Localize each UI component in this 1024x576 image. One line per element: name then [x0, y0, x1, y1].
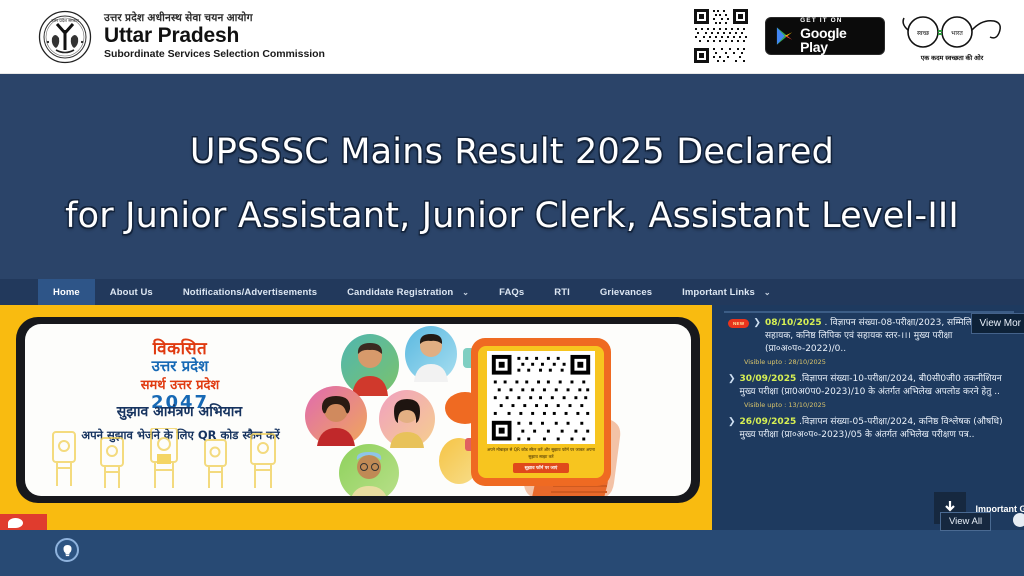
nav-label: Grievances [600, 287, 652, 298]
chevron-down-icon: ⌄ [764, 288, 771, 297]
nav-label: Home [53, 287, 80, 298]
notification-item[interactable]: ❯ 30/09/2025 .विज्ञापन संख्या-10-परीक्षा… [724, 373, 1016, 409]
nav-spacer [786, 279, 1024, 305]
poster-device-frame: विकसित उत्तर प्रदेश समर्थ उत्तर प्रदेश 2… [16, 317, 700, 503]
nav-item-notifications-advertisements[interactable]: Notifications/Advertisements [168, 279, 332, 305]
google-play-icon [776, 26, 793, 46]
swachh-bharat-caption: एक कदम स्वच्छता की ओर [905, 53, 999, 62]
hero-banner: UPSSSC Mains Result 2025 Declared for Ju… [0, 74, 1024, 279]
carousel-bottom-strip [0, 520, 712, 530]
qr-caption: अपने मोबाइल से QR कोड स्कैन करें और सुझा… [483, 447, 599, 460]
qr-cta-button[interactable]: सुझाव फॉर्म पर जाएं [513, 463, 570, 473]
notifications-panel: NEW ❯ 08/10/2025 . विज्ञापन संख्या-08-पर… [712, 305, 1024, 530]
svg-text:स्वच्छ: स्वच्छ [917, 30, 930, 37]
hero-title-line2: for Junior Assistant, Junior Clerk, Assi… [0, 196, 1024, 236]
nav-item-faqs[interactable]: FAQs [484, 279, 539, 305]
google-play-badge[interactable]: GET IT ON Google Play [765, 17, 885, 55]
notification-date: 08/10/2025 [765, 318, 822, 328]
nav-label: Important Links [682, 287, 755, 298]
qr-code-icon[interactable] [691, 6, 751, 66]
banner-carousel[interactable]: विकसित उत्तर प्रदेश समर्थ उत्तर प्रदेश 2… [0, 305, 712, 520]
view-all-button[interactable]: View All [940, 512, 991, 531]
nav-label: RTI [554, 287, 570, 298]
google-play-small-label: GET IT ON [800, 18, 874, 25]
up-government-emblem-icon: उत्तर प्रदेश सरकार [38, 10, 92, 64]
brand-hindi: उत्तर प्रदेश अधीनस्थ सेवा चयन आयोग [104, 13, 325, 24]
site-header: उत्तर प्रदेश सरकार उत्तर प्रदेश अधीनस्थ … [0, 0, 1024, 74]
poster-canvas: विकसित उत्तर प्रदेश समर्थ उत्तर प्रदेश 2… [25, 324, 691, 496]
chevron-right-icon: ❯ [728, 373, 736, 384]
view-more-button[interactable]: View Mor [971, 313, 1024, 334]
hero-title-line1: UPSSSC Mains Result 2025 Declared [0, 132, 1024, 172]
face-avatar [379, 390, 435, 448]
website-screenshot: Home About Us Notifications/Advertisemen… [0, 279, 1024, 576]
brand-title: Uttar Pradesh [104, 24, 325, 48]
notification-text: 30/09/2025 .विज्ञापन संख्या-10-परीक्षा/2… [740, 373, 1016, 399]
qr-poster-card: अपने मोबाइल से QR कोड स्कैन करें और सुझा… [471, 338, 611, 486]
brand[interactable]: उत्तर प्रदेश सरकार उत्तर प्रदेश अधीनस्थ … [38, 10, 325, 64]
header-right: GET IT ON Google Play स्वच्छ भारत एक कदम… [691, 6, 1004, 66]
nav-item-important-links[interactable]: Important Links ⌄ [667, 279, 786, 305]
nav-label: Candidate Registration [347, 287, 453, 298]
nav-label: About Us [110, 287, 153, 298]
new-badge: NEW [728, 319, 749, 328]
nav-label: Notifications/Advertisements [183, 287, 317, 298]
notification-date: 26/09/2025 [740, 417, 797, 427]
chevron-down-icon: ⌄ [462, 288, 469, 297]
svg-text:उत्तर प्रदेश सरकार: उत्तर प्रदेश सरकार [51, 18, 79, 23]
main-navigation: Home About Us Notifications/Advertisemen… [0, 279, 1024, 305]
face-avatar [339, 444, 399, 496]
nav-item-about-us[interactable]: About Us [95, 279, 168, 305]
qr-poster-inner: अपने मोबाइल से QR कोड स्कैन करें और सुझा… [478, 346, 604, 478]
nav-item-rti[interactable]: RTI [539, 279, 585, 305]
raised-hands-illustration [43, 428, 323, 490]
page-root: उत्तर प्रदेश सरकार उत्तर प्रदेश अधीनस्थ … [0, 0, 1024, 576]
notification-visible-upto: Visible upto : 13/10/2025 [744, 401, 1016, 409]
poster-samarth: समर्थ उत्तर प्रदेश [55, 375, 305, 393]
notification-text: 26/09/2025 .विज्ञापन संख्या-05-परीक्षा/2… [740, 416, 1016, 442]
nav-item-home[interactable]: Home [38, 279, 95, 305]
chevron-right-icon: ❯ [753, 317, 761, 328]
brand-text: उत्तर प्रदेश अधीनस्थ सेवा चयन आयोग Uttar… [104, 13, 325, 59]
poster-qr-code-icon [487, 351, 595, 444]
chevron-right-icon: ❯ [728, 416, 736, 427]
google-play-big-label: Google Play [800, 26, 874, 54]
brand-subtitle: Subordinate Services Selection Commissio… [104, 49, 325, 60]
page-footer-strip [0, 530, 1024, 576]
notification-item[interactable]: ❯ 26/09/2025 .विज्ञापन संख्या-05-परीक्षा… [724, 416, 1016, 442]
chat-bubble-icon [8, 518, 23, 528]
nav-item-grievances[interactable]: Grievances [585, 279, 667, 305]
face-avatar [305, 386, 367, 446]
people-faces-illustration [313, 328, 453, 496]
swachh-bharat-logo: स्वच्छ भारत एक कदम स्वच्छता की ओर [899, 10, 1004, 62]
qr-scan-illustration: अपने मोबाइल से QR कोड स्कैन करें और सुझा… [463, 334, 643, 496]
notification-date: 30/09/2025 [740, 374, 797, 384]
face-avatar [405, 326, 457, 382]
notification-visible-upto: Visible upto : 28/10/2025 [744, 358, 1016, 366]
nav-label: FAQs [499, 287, 524, 298]
svg-text:भारत: भारत [951, 30, 963, 37]
poster-heading: सुझाव आमंत्रण अभियान [47, 402, 312, 421]
scroll-knob[interactable] [1013, 513, 1024, 527]
lightbulb-icon[interactable] [55, 538, 79, 562]
nav-item-candidate-registration[interactable]: Candidate Registration ⌄ [332, 279, 484, 305]
poster-uttar-pradesh: उत्तर प्रदेश [55, 356, 305, 376]
